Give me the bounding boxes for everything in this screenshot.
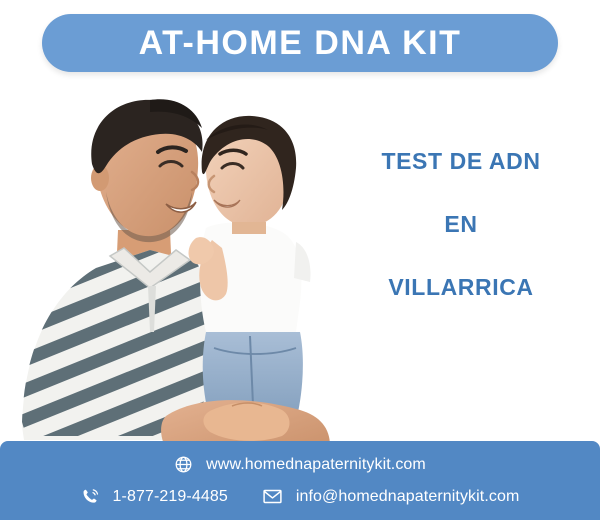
phone-icon	[81, 487, 100, 506]
phone-label: 1-877-219-4485	[113, 489, 228, 505]
header-title: AT-HOME DNA KIT	[139, 26, 462, 60]
header-banner: AT-HOME DNA KIT	[42, 14, 558, 72]
headline-block: TEST DE ADN EN VILLARRICA	[330, 150, 592, 299]
website-label: www.homednapaternitykit.com	[206, 457, 426, 473]
footer-contact-phone[interactable]: 1-877-219-4485	[81, 487, 228, 506]
footer-contact-email[interactable]: info@homednapaternitykit.com	[262, 486, 520, 507]
headline-line-2: EN	[330, 213, 592, 236]
poster-canvas: AT-HOME DNA KIT	[0, 0, 600, 520]
footer-row-website: www.homednapaternitykit.com	[0, 455, 600, 474]
email-label: info@homednapaternitykit.com	[296, 489, 520, 505]
globe-icon	[174, 455, 193, 474]
envelope-icon	[262, 486, 283, 507]
family-photo	[0, 80, 330, 455]
footer-contact-bar: www.homednapaternitykit.com 1-877-219-44…	[0, 441, 600, 520]
footer-contact-website[interactable]: www.homednapaternitykit.com	[174, 455, 426, 474]
headline-line-1: TEST DE ADN	[330, 150, 592, 173]
headline-line-3: VILLARRICA	[330, 276, 592, 299]
family-photo-illustration	[0, 80, 330, 455]
footer-row-phone-email: 1-877-219-4485 info@homednapaternitykit.…	[0, 486, 600, 507]
